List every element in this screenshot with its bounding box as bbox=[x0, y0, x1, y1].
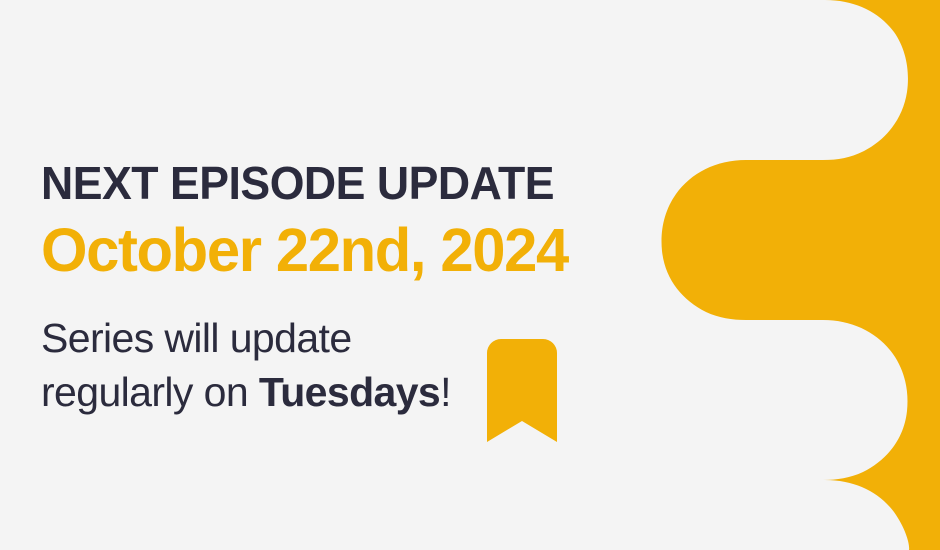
schedule-note: Series will update regularly on Tuesdays… bbox=[41, 311, 461, 419]
page-title: NEXT EPISODE UPDATE bbox=[41, 160, 681, 206]
banner-text-block: NEXT EPISODE UPDATE October 22nd, 2024 S… bbox=[41, 160, 701, 419]
episode-date: October 22nd, 2024 bbox=[41, 220, 688, 281]
bookmark-icon bbox=[487, 339, 557, 442]
schedule-note-day: Tuesdays bbox=[259, 369, 440, 415]
announcement-banner: NEXT EPISODE UPDATE October 22nd, 2024 S… bbox=[0, 0, 940, 550]
schedule-note-suffix: ! bbox=[440, 369, 451, 415]
